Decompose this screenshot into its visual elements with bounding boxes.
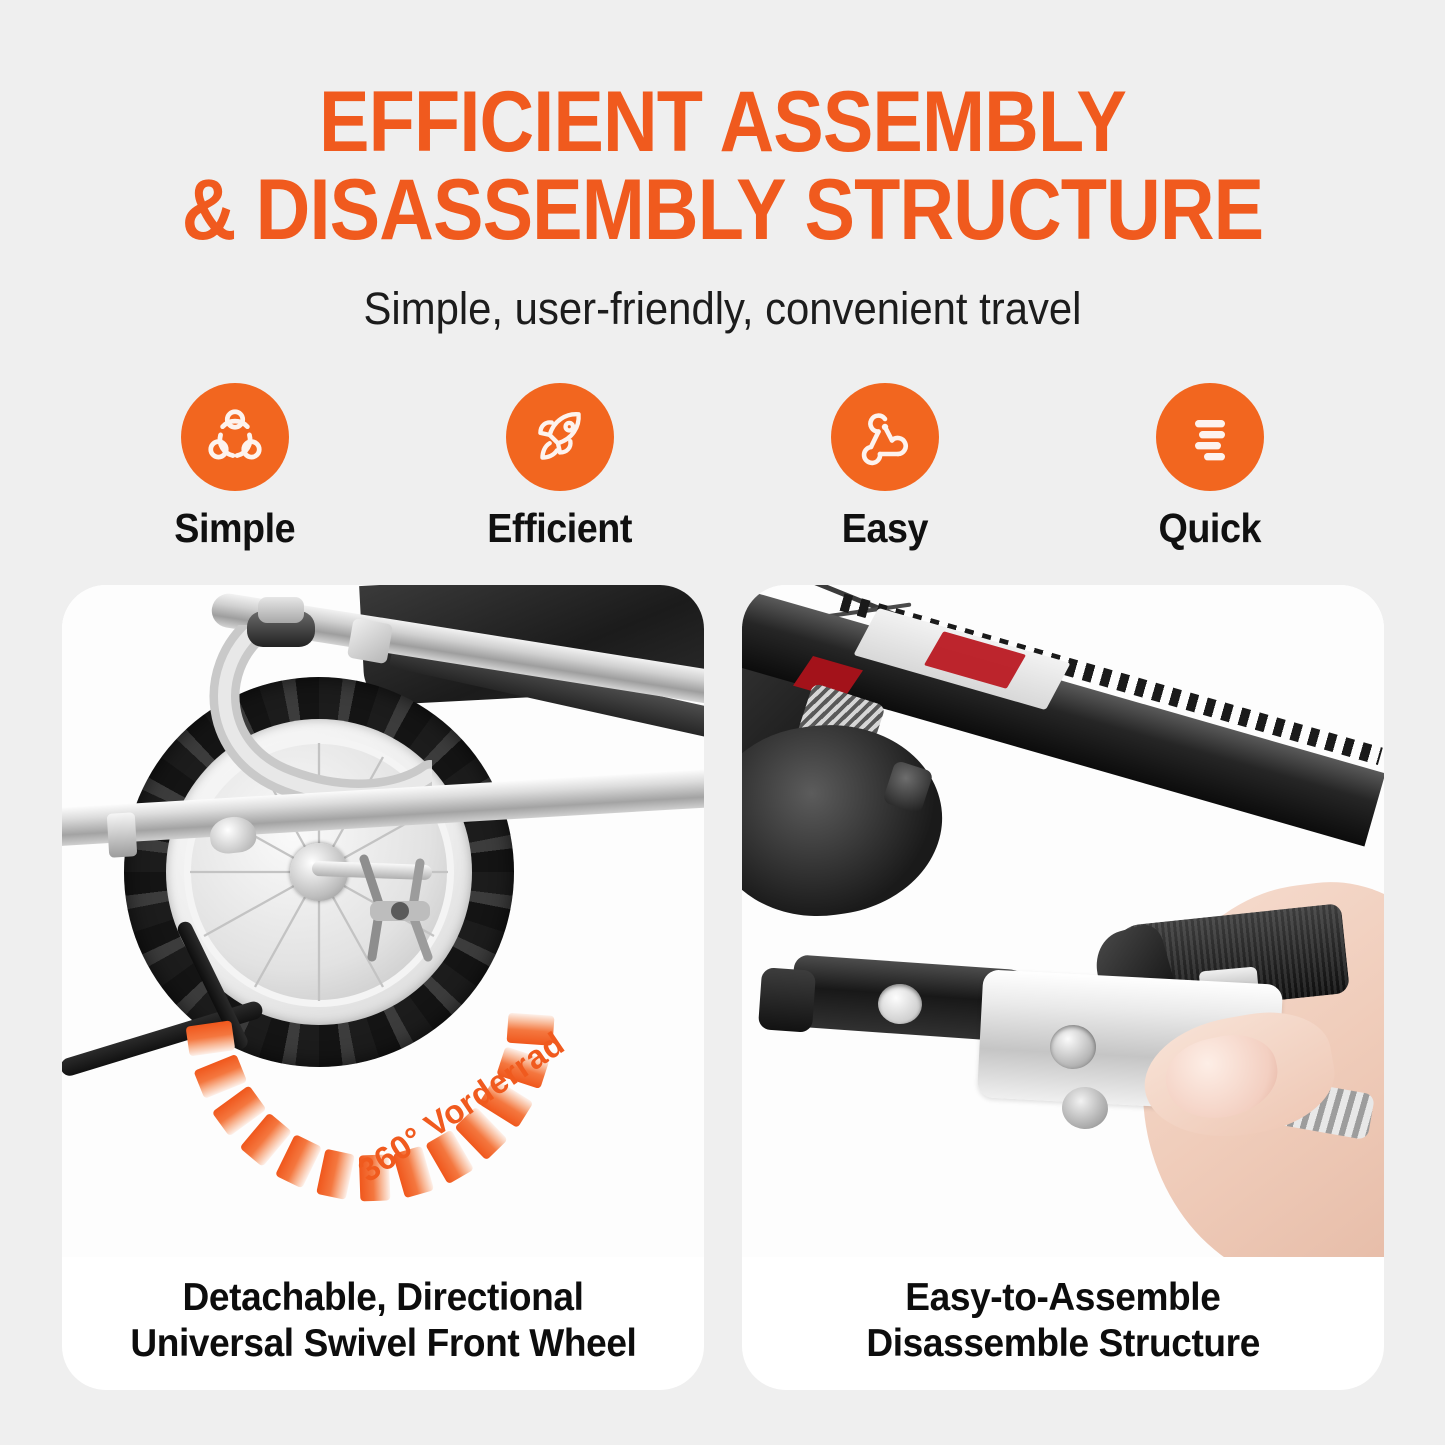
feature-label-quick: Quick <box>1159 505 1262 552</box>
feature-label-easy: Easy <box>842 505 928 552</box>
feature-card-swivel-wheel[interactable]: 360° Vorderrad Detachable, Directional U… <box>62 585 704 1390</box>
card-caption-swivel-wheel: Detachable, Directional Universal Swivel… <box>62 1257 704 1390</box>
brake-caliper <box>350 853 454 965</box>
feature-item-efficient: Efficient <box>445 383 675 552</box>
bike-trailer-swivel-front-wheel-photo: 360° Vorderrad <box>62 585 704 1257</box>
feature-highlights-row: Simple Efficient Easy <box>120 383 1325 548</box>
rocket-icon <box>506 383 614 491</box>
caption-line-2: Disassemble Structure <box>866 1321 1260 1367</box>
feature-cards-row: 360° Vorderrad Detachable, Directional U… <box>62 585 1384 1390</box>
360-rotation-arc-graphic <box>140 977 600 1257</box>
caption-line-1: Detachable, Directional <box>182 1275 583 1321</box>
headline-line-2: & DISASSEMBLY STRUCTURE <box>87 166 1359 254</box>
feature-label-efficient: Efficient <box>488 505 633 552</box>
feature-item-quick: Quick <box>1095 383 1325 552</box>
card-caption-assembly: Easy-to-Assemble Disassemble Structure <box>742 1257 1384 1390</box>
feature-label-simple: Simple <box>175 505 296 552</box>
feature-item-simple: Simple <box>120 383 350 552</box>
webhook-icon <box>831 383 939 491</box>
page-headline: EFFICIENT ASSEMBLY & DISASSEMBLY STRUCTU… <box>87 78 1359 254</box>
page-subtitle: Simple, user-friendly, convenient travel <box>51 283 1395 335</box>
share-network-icon <box>181 383 289 491</box>
headline-line-1: EFFICIENT ASSEMBLY <box>87 78 1359 166</box>
speed-lines-icon <box>1156 383 1264 491</box>
hand-assembling-hitch-coupler-photo <box>742 585 1384 1257</box>
caption-line-2: Universal Swivel Front Wheel <box>130 1321 636 1367</box>
feature-item-easy: Easy <box>770 383 1000 552</box>
feature-card-assembly[interactable]: Easy-to-Assemble Disassemble Structure <box>742 585 1384 1390</box>
caption-line-1: Easy-to-Assemble <box>905 1275 1220 1321</box>
